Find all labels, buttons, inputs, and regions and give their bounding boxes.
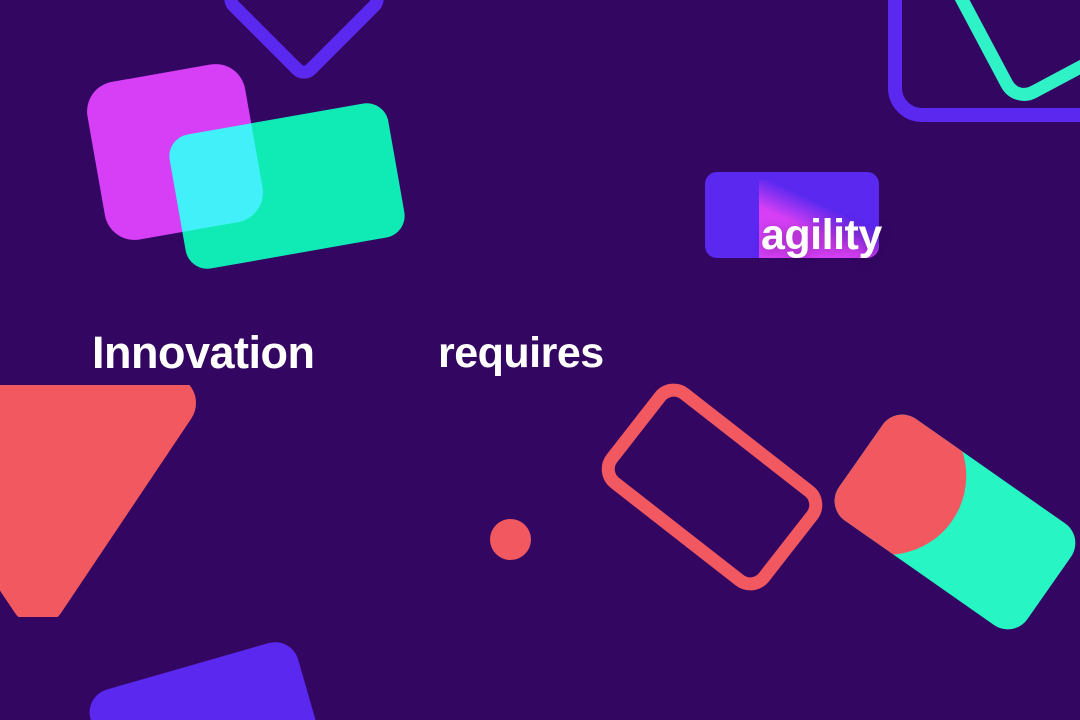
card-teal-bottom-right-shape	[825, 405, 1080, 638]
diamond-outline-blue-shape	[218, 0, 391, 85]
rounded-rect-outline-coral-shape	[592, 374, 832, 600]
agility-card-magenta-wedge	[759, 180, 879, 258]
rounded-rect-outline-blue-shape	[888, 0, 1080, 122]
rounded-square-magenta-shape	[82, 59, 267, 244]
circle-coral-inset	[825, 405, 997, 586]
rounded-rect-outline-teal-shape	[934, 0, 1080, 110]
triangle-coral-shape	[0, 385, 198, 617]
headline-word-requires: requires	[438, 332, 604, 375]
headline-word-agility: agility	[761, 214, 882, 257]
decorative-shape-layer	[0, 0, 1080, 720]
headline-text-layer: Innovation requires agility	[0, 0, 1080, 720]
slide-canvas: Innovation requires agility	[0, 0, 1080, 720]
dot-coral-shape	[490, 519, 531, 560]
rounded-rect-teal-shape	[166, 100, 408, 272]
headline-word-innovation: Innovation	[92, 330, 314, 375]
agility-card-blue-shape	[705, 172, 879, 258]
card-blue-bottom-left-shape	[84, 637, 324, 720]
